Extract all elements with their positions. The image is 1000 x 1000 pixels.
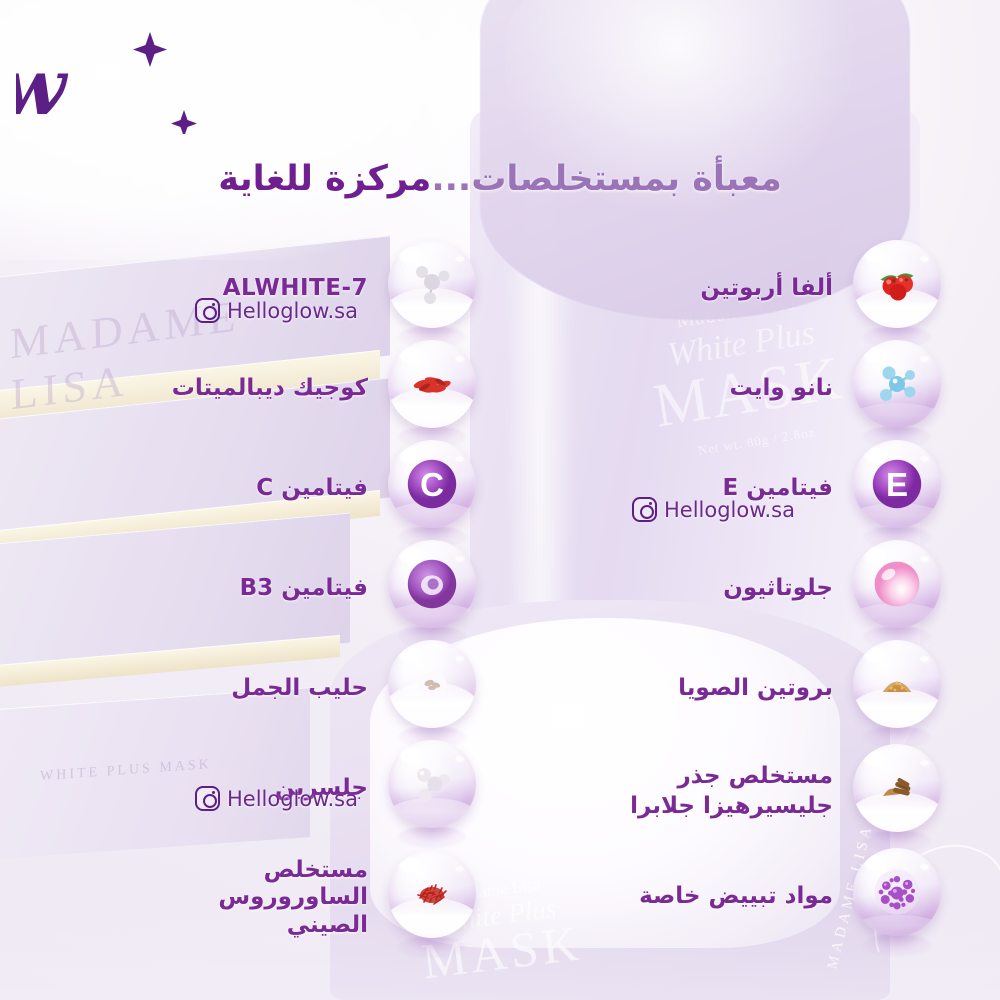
ingredient-item[interactable]: C فيتامين C [120, 438, 480, 538]
instagram-watermark[interactable]: Helloglow.sa [632, 497, 795, 522]
ingredient-item[interactable]: حليب الجمل [120, 638, 480, 738]
sparkle-star-icon [133, 32, 167, 67]
vitamin-e-icon: E [853, 440, 941, 528]
ingredient-label: فيتامين B3 [120, 574, 384, 602]
molecule-white-icon [388, 240, 476, 328]
goji-berries-icon [388, 340, 476, 428]
page-headline: معبأة بمستخلصات...مركزة للغاية [0, 158, 1000, 202]
ingredient-bubble [849, 846, 945, 946]
svg-text:E: E [886, 466, 908, 503]
background-jar-lid-highlight [505, 0, 885, 240]
ingredient-bubble [849, 338, 945, 438]
camel-milk-icon [388, 640, 476, 728]
ingredient-item[interactable]: بروتين الصويا [585, 638, 945, 738]
logo-glow-text: Glow [16, 42, 69, 133]
ingredient-item[interactable]: نانو وايت [585, 338, 945, 438]
ingredient-column-right: ألفا أربوتين [585, 238, 945, 946]
ingredient-bubble: C [384, 438, 480, 538]
instagram-watermark[interactable]: Helloglow.sa [195, 298, 358, 323]
glycerin-molecule-icon [388, 740, 476, 828]
ingredient-bubble [384, 338, 480, 438]
instagram-icon [632, 497, 657, 522]
headline-bold-part: مركزة للغاية [218, 159, 431, 199]
instagram-handle: Helloglow.sa [227, 787, 358, 811]
bubble-reflection [398, 936, 466, 958]
background-jar-shine [505, 150, 575, 770]
ingredient-item[interactable]: فيتامين B3 [120, 538, 480, 638]
ingredient-bubble [849, 742, 945, 842]
sparkle-star-icon [171, 110, 197, 134]
ingredient-item[interactable]: كوجيك ديبالميتات [120, 338, 480, 438]
ingredient-label: مواد تبييض خاصة [585, 882, 849, 910]
ingredient-bubble [384, 848, 480, 948]
ingredient-item[interactable]: مستخلص الساوروروس الصيني [120, 838, 480, 958]
svg-text:HELLO: HELLO [16, 14, 25, 18]
ingredient-bubble [384, 238, 480, 338]
ingredient-item[interactable]: جلوتاثيون [585, 538, 945, 638]
logo-hello-text: HELLO [16, 14, 25, 18]
pink-pearl-icon [853, 540, 941, 628]
ingredient-label: مستخلص الساوروروس الصيني [120, 857, 384, 940]
ingredient-bubble [849, 538, 945, 638]
vitamin-b3-icon [388, 540, 476, 628]
nano-molecule-icon [853, 340, 941, 428]
ingredient-bubble [384, 738, 480, 838]
svg-text:C: C [420, 466, 444, 503]
ingredient-label: نانو وايت [585, 374, 849, 402]
cranberry-icon [853, 240, 941, 328]
ingredient-bubble [849, 238, 945, 338]
brand-logo: HELLO Glow [16, 14, 316, 134]
instagram-handle: Helloglow.sa [227, 299, 358, 323]
ingredient-label: حليب الجمل [120, 674, 384, 702]
ingredient-item[interactable]: ALWHITE-7 [120, 238, 480, 338]
bubble-reflection [863, 934, 931, 956]
ingredient-label: فيتامين C [120, 474, 384, 502]
instagram-icon [195, 786, 220, 811]
ingredient-column-left: ALWHITE-7 [120, 238, 480, 958]
licorice-root-icon [853, 744, 941, 832]
ingredient-bubble [384, 638, 480, 738]
ingredient-label: ألفا أربوتين [585, 274, 849, 302]
infographic-canvas: Madame Lisa White Plus MASK Net wt. 80g … [0, 0, 1000, 1000]
ingredient-item[interactable]: مواد تبييض خاصة [585, 846, 945, 946]
instagram-handle: Helloglow.sa [664, 498, 795, 522]
vitamin-c-icon: C [388, 440, 476, 528]
whitening-bubbles-icon [853, 848, 941, 936]
ingredient-item[interactable]: ألفا أربوتين [585, 238, 945, 338]
ingredient-label: مستخلص جذر جليسيرهيزا جلابرا [585, 762, 849, 822]
ingredient-item[interactable]: E فيتامين E [585, 438, 945, 538]
saffron-threads-icon [388, 850, 476, 938]
headline-soft-part: معبأة بمستخلصات... [431, 159, 781, 199]
ingredient-bubble: E [849, 438, 945, 538]
soy-powder-icon [853, 640, 941, 728]
ingredient-label: بروتين الصويا [585, 674, 849, 702]
ingredient-item[interactable]: مستخلص جذر جليسيرهيزا جلابرا [585, 738, 945, 846]
ingredient-label: جلوتاثيون [585, 574, 849, 602]
instagram-icon [195, 298, 220, 323]
ingredient-bubble [849, 638, 945, 738]
ingredient-label: كوجيك ديبالميتات [120, 374, 384, 402]
ingredient-bubble [384, 538, 480, 638]
instagram-watermark[interactable]: Helloglow.sa [195, 786, 358, 811]
